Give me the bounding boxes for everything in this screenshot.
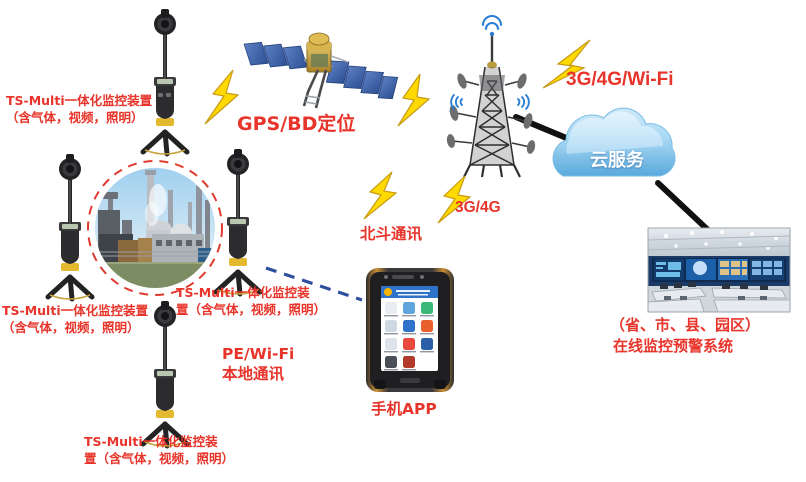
signal-waves-right: [518, 95, 529, 109]
label-device-top-left: TS-Multi一体化监控装置 （含气体，视频，照明）: [6, 93, 152, 126]
monitoring-device-bottom[interactable]: [143, 301, 187, 446]
label-monitor-center-line1: （省、市、县、园区）: [610, 316, 760, 336]
label-cloud-service: 云服务: [590, 146, 644, 172]
bolt-beidou: [364, 172, 396, 219]
label-phone-app: 手机APP: [371, 399, 437, 419]
bolt-satellite-to-tower: [398, 74, 429, 126]
label-beidou-comm: 北斗通讯: [360, 224, 422, 244]
cell-tower: [446, 16, 537, 177]
label-monitor-center-line2: 在线监控预警系统: [613, 337, 733, 357]
label-pe-wifi-local: PE/Wi-Fi 本地通讯: [222, 344, 294, 385]
monitoring-device-top[interactable]: [143, 9, 187, 154]
satellite: [244, 25, 398, 108]
signal-waves-left: [451, 95, 462, 109]
monitoring-device-left[interactable]: [48, 154, 92, 299]
control-room-photo: [648, 228, 790, 312]
rugged-tablet[interactable]: [366, 268, 454, 392]
label-device-mid-left: TS-Multi一体化监控装置 （含气体，视频，照明）: [2, 303, 148, 336]
line-cloud-to-control-room: [658, 183, 708, 230]
label-3g4g-wifi: 3G/4G/Wi-Fi: [566, 67, 674, 92]
label-3g4g: 3G/4G: [455, 198, 501, 218]
label-gps-bd: GPS/BD定位: [237, 112, 355, 137]
label-device-bottom: TS-Multi一体化监控装 置（含气体，视频，照明）: [84, 434, 234, 467]
bolt-device-to-satellite: [205, 70, 238, 124]
diagram-canvas: TS-Multi一体化监控装置 （含气体，视频，照明） TS-Multi一体化监…: [0, 0, 806, 482]
industrial-plant-photo: [95, 168, 215, 288]
monitoring-device-right[interactable]: [216, 149, 260, 294]
label-device-mid-right: TS-Multi一体化监控装 置（含气体，视频，照明）: [176, 285, 326, 318]
